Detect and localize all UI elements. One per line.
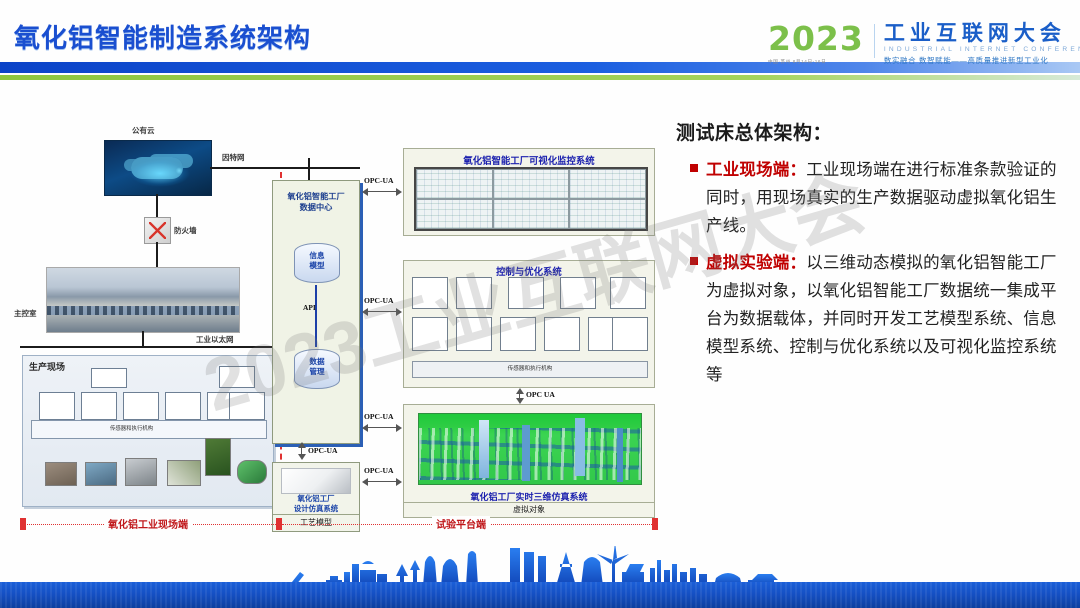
control-node	[610, 277, 646, 309]
bullet-item: 虚拟实验端：以三维动态模拟的氧化铝智能工厂为虚拟对象，以氧化铝智能工厂数据统一集…	[676, 249, 1068, 389]
arrow-up-icon	[298, 442, 306, 448]
scada-cell	[416, 199, 493, 229]
opcua-label: OPC-UA	[364, 466, 394, 475]
logo-slogan: 数实融合 数智赋能——高质量推进新型工业化	[884, 55, 1080, 66]
arrow-up-icon	[516, 388, 524, 394]
panel-heading: 测试床总体架构：	[676, 118, 1068, 145]
data-center-title-line2: 数据中心	[300, 203, 333, 212]
data-center-title-line1: 氧化铝智能工厂	[287, 192, 344, 201]
label-control-room: 主控室	[14, 308, 37, 319]
control-node	[544, 317, 580, 351]
datacenter-uplink	[308, 158, 310, 180]
process-node	[165, 392, 201, 420]
process-node	[91, 368, 127, 388]
arrow-down-icon	[298, 454, 306, 460]
logo-conference-en: INDUSTRIAL INTERNET CONFERENCE	[884, 46, 1080, 53]
header-divider-green	[0, 75, 1080, 80]
footer-blue-band	[0, 582, 1080, 608]
section-span-row: 氧化铝工业现场端 试验平台端	[8, 516, 668, 534]
opcua-label: OPC-UA	[364, 176, 394, 185]
control-node	[508, 277, 544, 309]
control-node	[560, 277, 596, 309]
control-node	[500, 317, 536, 351]
opcua-arrow-horizontal	[362, 308, 402, 316]
architecture-diagram: 公有云 因特网 防火墙 主控室 工业以太网 生产现场 传感器和执行机构	[8, 112, 668, 544]
three-d-simulation-panel: 氧化铝工厂实时三维仿真系统 虚拟对象	[403, 404, 655, 518]
arrow-down-icon	[516, 398, 524, 404]
data-center-title: 氧化铝智能工厂 数据中心	[273, 191, 359, 213]
process-node	[39, 392, 75, 420]
logo-year-block: 2023 中国·苏州 8月14日-16日	[768, 22, 874, 65]
bullet-item: 工业现场端：工业现场端在进行标准条款验证的同时，用现场真实的生产数据驱动虚拟氧化…	[676, 156, 1068, 240]
design-title-line2: 设计仿真系统	[294, 504, 338, 513]
control-node	[456, 277, 492, 309]
public-cloud-image	[104, 140, 212, 196]
equipment-photo	[45, 462, 77, 486]
logo-text-block: 工业互联网大会 INDUSTRIAL INTERNET CONFERENCE 数…	[884, 22, 1080, 66]
ctrlroom-bus-line	[142, 331, 144, 347]
arrow-left-icon	[362, 424, 368, 432]
data-mgmt-line2: 管理	[309, 367, 324, 376]
bullet-text: 虚拟实验端：以三维动态模拟的氧化铝智能工厂为虚拟对象，以氧化铝智能工厂数据统一集…	[706, 249, 1068, 389]
equipment-photo	[237, 460, 267, 484]
bullet-square-icon	[690, 257, 698, 265]
opcua-label: OPC UA	[526, 390, 555, 399]
data-management-label: 数据 管理	[295, 357, 339, 377]
info-model-line2: 模型	[309, 261, 324, 270]
arrow-right-icon	[396, 308, 402, 316]
data-mgmt-line1: 数据	[309, 357, 324, 366]
control-node	[612, 317, 648, 351]
span-label-right: 试验平台端	[432, 516, 490, 531]
scada-cell	[493, 169, 570, 199]
firewall-icon	[144, 217, 171, 244]
label-industrial-ethernet: 工业以太网	[196, 334, 234, 345]
logo-year-text: 2023	[768, 22, 864, 56]
span-label-left: 氧化铝工业现场端	[104, 516, 192, 531]
bullet-separator: ：	[790, 254, 807, 272]
opcua-label: OPC-UA	[308, 446, 338, 455]
arrow-left-icon	[362, 478, 368, 486]
control-node-grid	[412, 277, 646, 355]
process-node	[219, 366, 255, 388]
bullet-text: 工业现场端：工业现场端在进行标准条款验证的同时，用现场真实的生产数据驱动虚拟氧化…	[706, 156, 1068, 240]
control-node	[412, 277, 448, 309]
equipment-photo	[205, 438, 231, 476]
arrow-right-icon	[396, 188, 402, 196]
information-model-cylinder: 信息 模型	[294, 243, 340, 283]
api-label: API	[303, 303, 316, 312]
design-drawing-image	[281, 468, 351, 494]
data-center-box: 氧化铝智能工厂 数据中心 信息 模型 API 数据 管理	[272, 180, 360, 444]
right-text-panel: 测试床总体架构： 工业现场端：工业现场端在进行标准条款验证的同时，用现场真实的生…	[676, 118, 1068, 398]
bullet-lead: 虚拟实验端	[706, 254, 790, 272]
api-connector	[315, 285, 317, 347]
internet-link-line	[210, 167, 360, 169]
scada-cell	[569, 169, 646, 199]
bullet-square-icon	[690, 164, 698, 172]
production-site-box: 生产现场 传感器和执行机构	[22, 355, 274, 507]
bullet-lead: 工业现场端	[706, 161, 790, 179]
opcua-arrow-horizontal	[362, 188, 402, 196]
firewall-ctrlroom-line	[156, 242, 158, 268]
bullet-body-text: 以三维动态模拟的氧化铝智能工厂为虚拟对象，以氧化铝智能工厂数据统一集成平台为数据…	[706, 254, 1057, 384]
control-optimization-panel: 控制与优化系统 传感器和执行机构	[403, 260, 655, 388]
logo-date-text: 中国·苏州 8月14日-16日	[768, 59, 864, 65]
conference-logo: 2023 中国·苏州 8月14日-16日 工业互联网大会 INDUSTRIAL …	[768, 22, 1080, 66]
slide-root: 氧化铝智能制造系统架构 2023 中国·苏州 8月14日-16日 工业互联网大会…	[0, 0, 1080, 608]
logo-divider	[874, 24, 875, 58]
label-sensors-actuators-field: 传感器和执行机构	[110, 424, 153, 432]
opcua-arrow-horizontal	[362, 424, 402, 432]
footer-skyline	[0, 546, 1080, 608]
label-public-cloud: 公有云	[132, 125, 155, 136]
arrow-right-icon	[396, 478, 402, 486]
scada-cell	[416, 169, 493, 199]
field-sensor-bus: 传感器和执行机构	[31, 420, 267, 439]
process-node	[81, 392, 117, 420]
plant-3d-render	[418, 413, 642, 485]
span-cap-right	[652, 518, 658, 530]
opcua-label: OPC-UA	[364, 412, 394, 421]
virtual-object-footer: 虚拟对象	[404, 502, 654, 517]
equipment-photo	[167, 460, 201, 486]
opcua-arrow-vertical	[516, 388, 524, 404]
info-model-line1: 信息	[309, 251, 324, 260]
logo-conference-cn: 工业互联网大会	[884, 22, 1080, 45]
scada-cell	[493, 199, 570, 229]
control-room-photo	[46, 267, 240, 333]
scada-cell	[569, 199, 646, 229]
opcua-arrow-horizontal	[362, 478, 402, 486]
design-title-line1: 氧化铝工厂	[298, 494, 335, 503]
data-management-cylinder: 数据 管理	[294, 349, 340, 389]
control-node	[456, 317, 492, 351]
label-firewall: 防火墙	[174, 225, 197, 236]
process-node	[123, 392, 159, 420]
equipment-photo	[85, 462, 117, 486]
label-production-site: 生产现场	[29, 360, 65, 373]
arrow-right-icon	[396, 424, 402, 432]
bullet-separator: ：	[790, 161, 807, 179]
visualization-panel-title: 氧化铝智能工厂可视化监控系统	[404, 153, 654, 167]
design-simulation-title: 氧化铝工厂 设计仿真系统	[273, 494, 359, 514]
opcua-label: OPC-UA	[364, 296, 394, 305]
process-node	[229, 392, 265, 420]
equipment-photo	[125, 458, 157, 486]
label-internet: 因特网	[222, 152, 245, 163]
page-title: 氧化铝智能制造系统架构	[14, 18, 311, 55]
arrow-left-icon	[362, 188, 368, 196]
scada-screens	[414, 167, 648, 231]
control-node	[412, 317, 448, 351]
arrow-left-icon	[362, 308, 368, 316]
control-panel-title: 控制与优化系统	[404, 264, 654, 278]
information-model-label: 信息 模型	[295, 251, 339, 271]
cloud-firewall-line	[156, 194, 158, 218]
visualization-panel: 氧化铝智能工厂可视化监控系统	[403, 148, 655, 236]
label-sensors-actuators-control: 传感器和执行机构	[412, 361, 648, 378]
opcua-arrow-vertical	[298, 442, 306, 460]
